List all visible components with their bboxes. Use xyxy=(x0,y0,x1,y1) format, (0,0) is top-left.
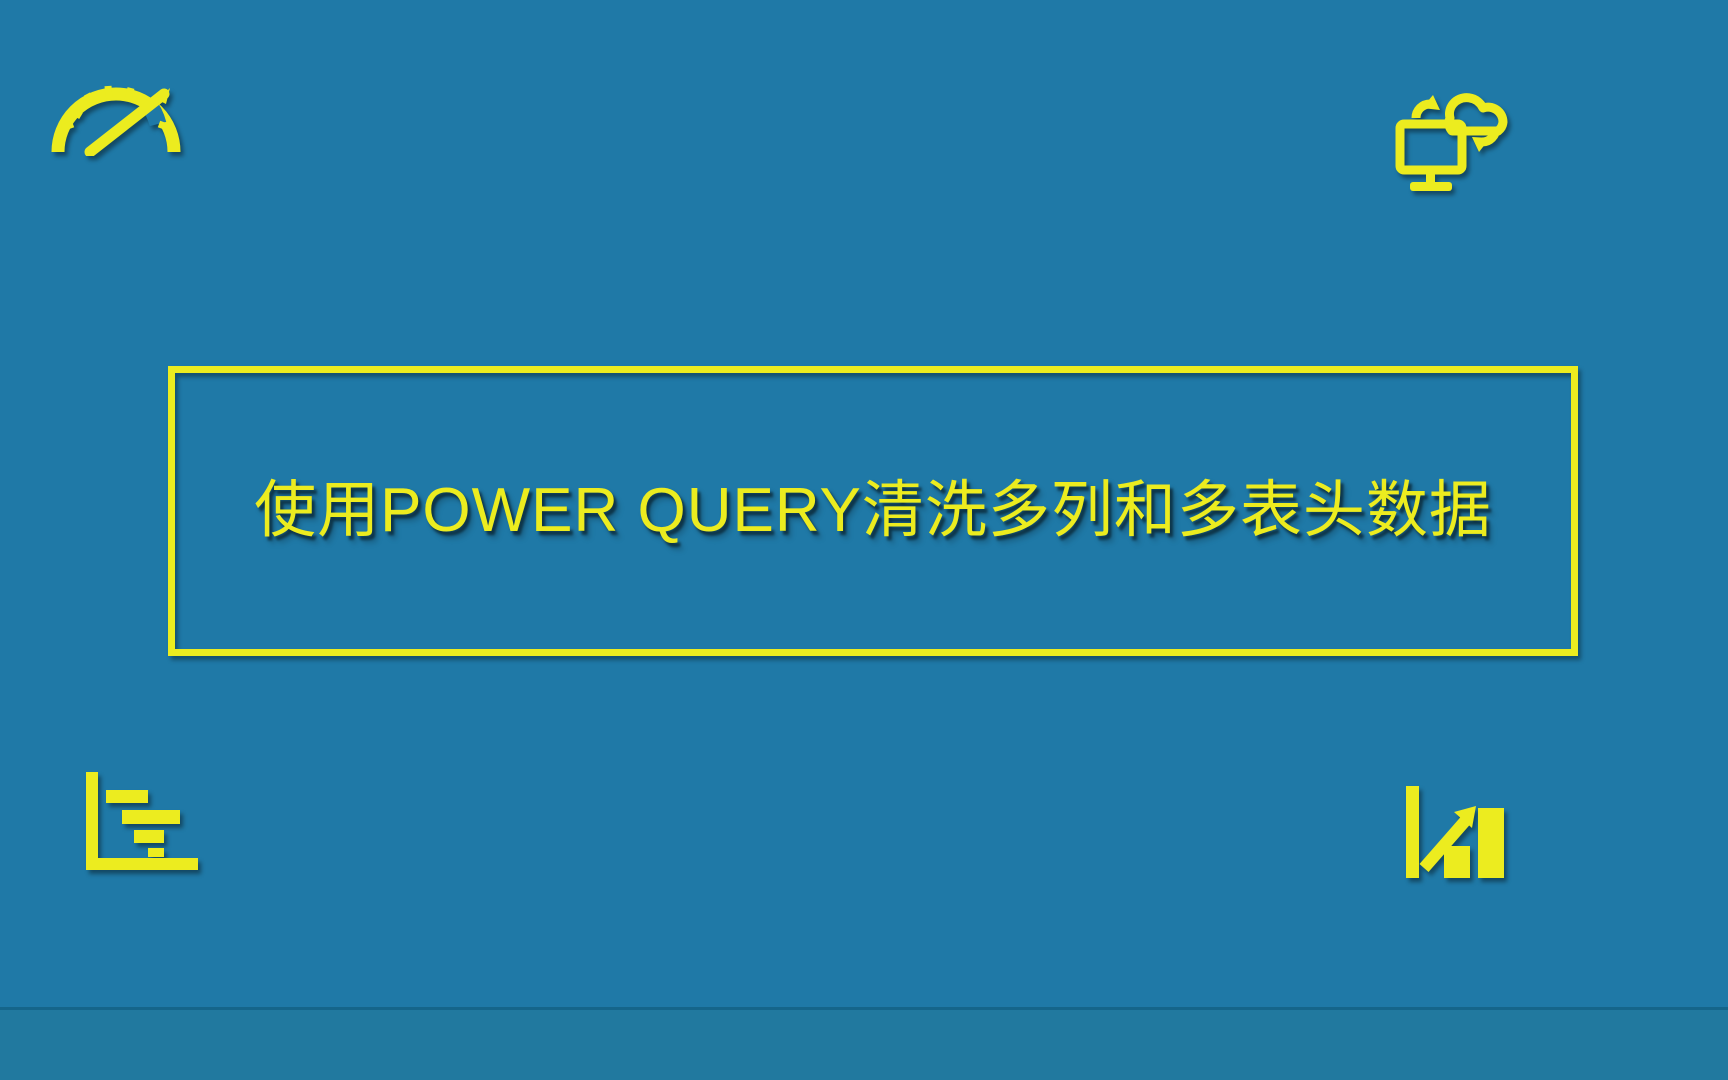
gauge-icon xyxy=(46,56,186,156)
growth-bar-chart-icon xyxy=(1404,768,1516,880)
title-box: 使用POWER QUERY清洗多列和多表头数据 xyxy=(168,366,1578,656)
footer-band xyxy=(0,1010,1728,1080)
declining-bar-chart-icon xyxy=(82,768,202,874)
cloud-sync-icon xyxy=(1392,62,1524,197)
slide-body: 使用POWER QUERY清洗多列和多表头数据 xyxy=(0,0,1728,1008)
slide-canvas: 使用POWER QUERY清洗多列和多表头数据 xyxy=(0,0,1728,1080)
page-title: 使用POWER QUERY清洗多列和多表头数据 xyxy=(254,475,1492,546)
